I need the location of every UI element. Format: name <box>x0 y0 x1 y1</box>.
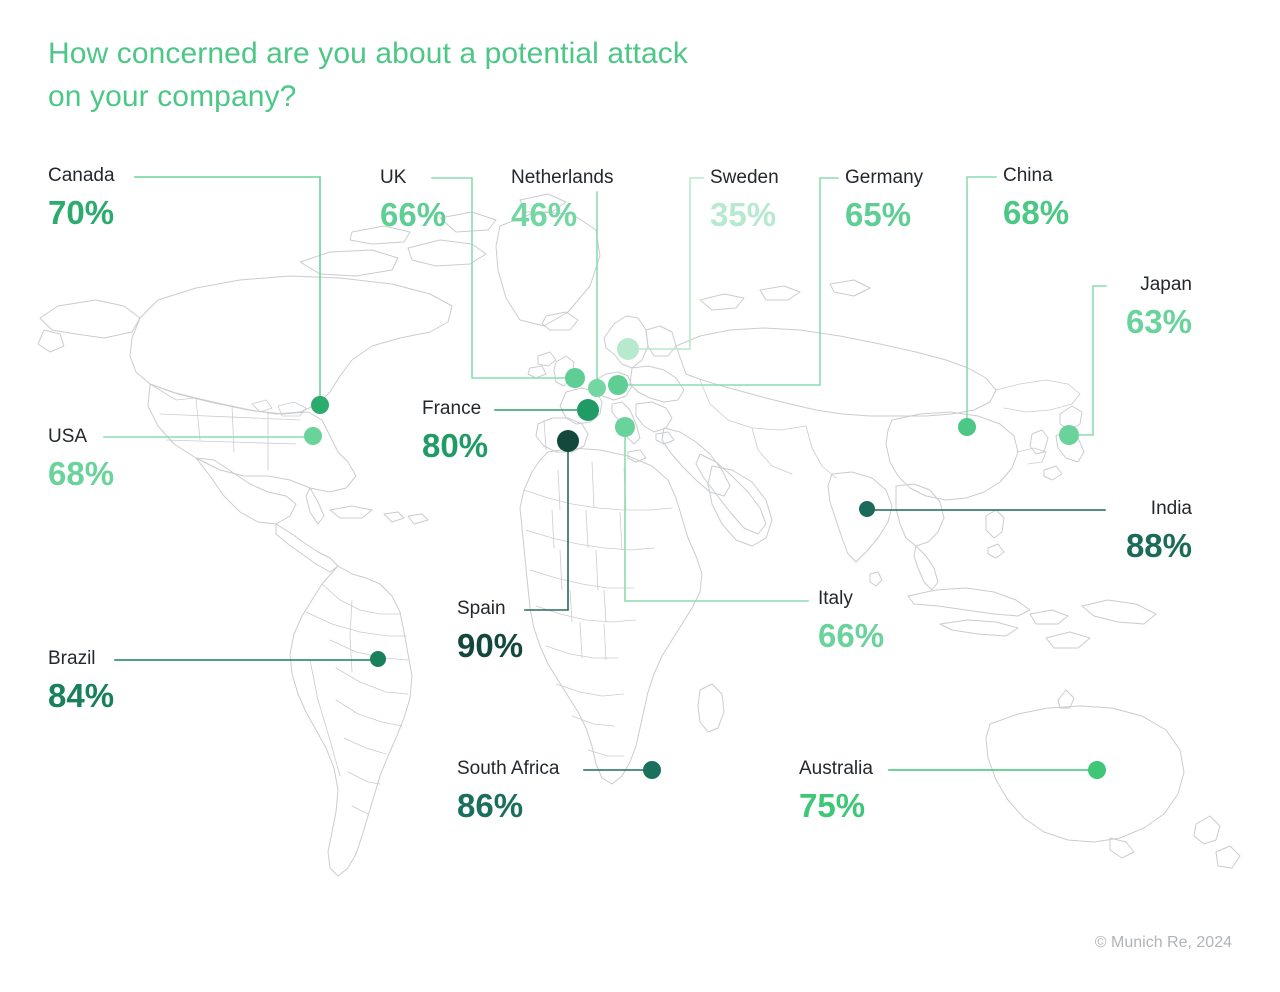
label-france: France80% <box>422 399 488 462</box>
map-dot-spain[interactable] <box>557 430 579 452</box>
label-italy: Italy66% <box>818 589 884 652</box>
leader-line-japan <box>1069 286 1106 435</box>
country-name-spain: Spain <box>457 599 523 618</box>
country-name-brazil: Brazil <box>48 649 114 668</box>
country-name-netherlands: Netherlands <box>511 168 613 187</box>
map-dot-australia[interactable] <box>1088 761 1106 779</box>
country-value-australia: 75% <box>799 789 873 822</box>
label-australia: Australia75% <box>799 759 873 822</box>
country-name-japan: Japan <box>1126 275 1192 294</box>
map-dot-usa[interactable] <box>304 427 322 445</box>
country-name-canada: Canada <box>48 166 115 185</box>
leader-line-canada <box>135 177 320 405</box>
country-name-sweden: Sweden <box>710 168 779 187</box>
map-dot-china[interactable] <box>958 418 976 436</box>
country-name-usa: USA <box>48 427 114 446</box>
label-brazil: Brazil84% <box>48 649 114 712</box>
map-dot-italy[interactable] <box>615 417 635 437</box>
country-name-italy: Italy <box>818 589 884 608</box>
country-value-china: 68% <box>1003 196 1069 229</box>
leader-line-spain <box>525 441 568 610</box>
map-dot-japan[interactable] <box>1059 425 1079 445</box>
label-sweden: Sweden35% <box>710 168 779 231</box>
country-value-sweden: 35% <box>710 198 779 231</box>
map-dot-germany[interactable] <box>608 375 628 395</box>
copyright-footer: © Munich Re, 2024 <box>1095 934 1232 952</box>
country-value-japan: 63% <box>1126 305 1192 338</box>
label-south-africa: South Africa86% <box>457 759 559 822</box>
country-value-spain: 90% <box>457 629 523 662</box>
country-value-usa: 68% <box>48 457 114 490</box>
infographic-root: How concerned are you about a potential … <box>0 0 1280 992</box>
label-spain: Spain90% <box>457 599 523 662</box>
country-value-canada: 70% <box>48 196 115 229</box>
leader-line-italy <box>625 427 808 601</box>
leader-line-china <box>967 177 996 427</box>
country-name-france: France <box>422 399 488 418</box>
map-dot-brazil[interactable] <box>370 651 386 667</box>
country-value-uk: 66% <box>380 198 446 231</box>
country-value-germany: 65% <box>845 198 923 231</box>
map-dot-india[interactable] <box>859 501 875 517</box>
country-name-south-africa: South Africa <box>457 759 559 778</box>
map-dot-sweden[interactable] <box>617 338 639 360</box>
map-dot-south-africa[interactable] <box>643 761 661 779</box>
country-name-australia: Australia <box>799 759 873 778</box>
leader-line-sweden <box>628 178 703 349</box>
label-canada: Canada70% <box>48 166 115 229</box>
country-value-south-africa: 86% <box>457 789 559 822</box>
country-value-france: 80% <box>422 429 488 462</box>
label-china: China68% <box>1003 166 1069 229</box>
country-value-italy: 66% <box>818 619 884 652</box>
map-dot-netherlands[interactable] <box>588 379 606 397</box>
leader-paths <box>104 177 1106 770</box>
country-name-uk: UK <box>380 168 446 187</box>
country-name-india: India <box>1126 499 1192 518</box>
country-value-netherlands: 46% <box>511 198 613 231</box>
label-india: India88% <box>1126 499 1192 562</box>
map-dot-france[interactable] <box>577 399 599 421</box>
label-uk: UK66% <box>380 168 446 231</box>
country-name-china: China <box>1003 166 1069 185</box>
map-dot-canada[interactable] <box>311 396 329 414</box>
label-usa: USA68% <box>48 427 114 490</box>
country-value-brazil: 84% <box>48 679 114 712</box>
country-value-india: 88% <box>1126 529 1192 562</box>
label-japan: Japan63% <box>1126 275 1192 338</box>
country-name-germany: Germany <box>845 168 923 187</box>
label-netherlands: Netherlands46% <box>511 168 613 231</box>
map-dot-uk[interactable] <box>565 368 585 388</box>
leader-lines-layer <box>0 0 1280 992</box>
label-germany: Germany65% <box>845 168 923 231</box>
